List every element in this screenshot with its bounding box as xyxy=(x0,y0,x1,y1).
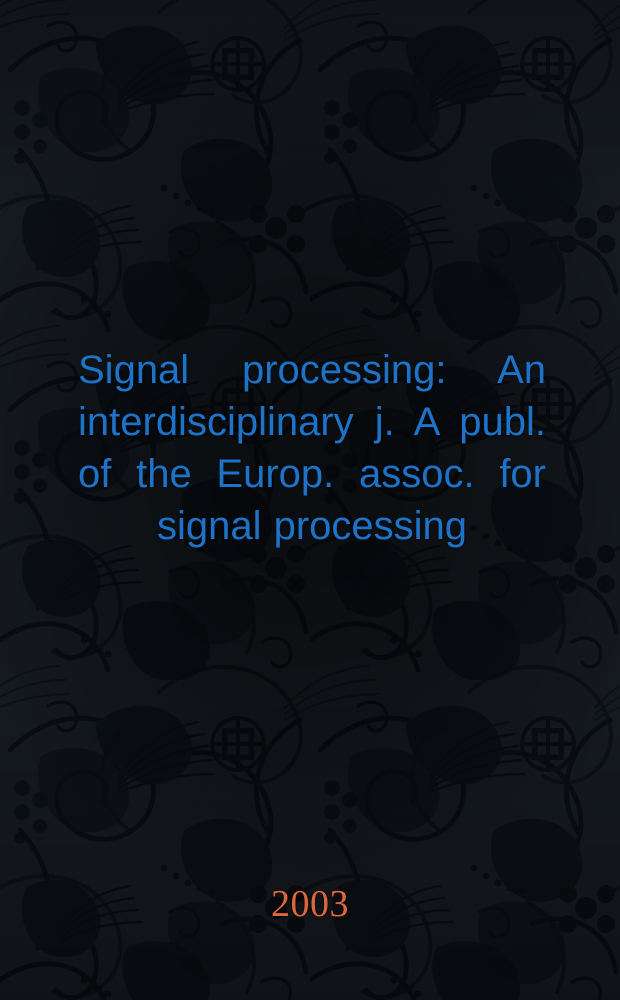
cover-year: 2003 xyxy=(0,884,620,924)
book-cover-page: Signal processing: An interdisciplinary … xyxy=(0,0,620,1000)
cover-content: Signal processing: An interdisciplinary … xyxy=(0,0,620,1000)
cover-title: Signal processing: An interdisciplinary … xyxy=(78,344,546,552)
